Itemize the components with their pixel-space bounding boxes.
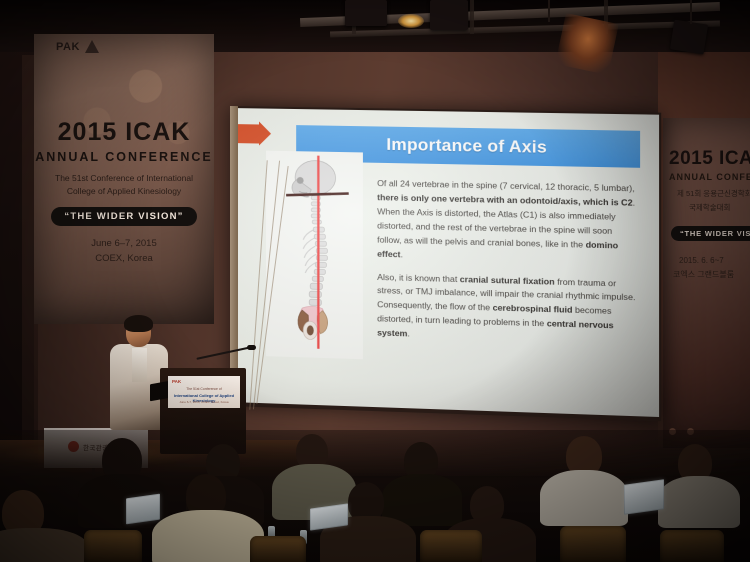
banner-right-korean-line2: 국제학술대회 [689,202,730,215]
audience-laptop [126,494,160,525]
ceiling-lamp-glow [398,14,424,28]
audience-laptop [624,479,664,515]
banner-right-venue: 코엑스 그랜드볼룸 [673,268,734,282]
laptop-screen [127,495,159,523]
podium-sign-logo: PAK [172,379,181,384]
banner-left-description: The 51st Conference of International Col… [34,172,214,198]
pak-logo-text: PAK [56,41,80,53]
banner-right: 2015 ICA ANNUAL CONFEREN 제 51회 응용근신경학회 국… [663,118,750,448]
chair [84,530,142,562]
stage-light [430,0,468,30]
speaker-hair [124,315,153,332]
slide-paragraph-2: Also, it is known that cranial sutural f… [377,270,638,348]
podium-sign-line1: The 51st Conference of [168,387,240,391]
anatomy-illustration [266,151,363,360]
audience-shoulders [0,528,88,562]
warm-spotlight [555,13,619,75]
banner-right-korean-line1: 제 51회 응용근신경학회 [677,188,750,201]
speaker-shirt [132,348,147,382]
pelvis-icon [298,306,328,340]
audience [0,430,750,562]
conference-photo: PAK 2015 ICAK ANNUAL CONFERENCE The 51st… [0,0,750,562]
banner-right-tagline: “THE WIDER VISION [671,226,750,241]
lumbar-spine [309,283,322,305]
skull-icon [292,160,336,197]
triangle-icon [85,40,99,53]
podium-sign: PAK The 51st Conference of International… [168,376,240,408]
podium-sign-line3: June 6-7, 2015, COEX, Seoul, Korea [168,400,240,404]
pak-logo: PAK [56,40,99,53]
stage-light [345,0,387,26]
chair [250,536,306,562]
audience-shoulders [658,476,740,528]
banner-left-date: June 6–7, 2015 [34,237,214,252]
arrow-icon [238,124,260,144]
stage-light [670,20,708,55]
laptop-screen [625,480,663,513]
spine-diagram-svg [266,151,363,360]
banner-right-subtitle: ANNUAL CONFEREN [669,172,750,182]
cervical-spine [311,196,321,224]
slide-body-text: Of all 24 vertebrae in the spine (7 cerv… [377,177,638,406]
slide: Importance of Axis [238,108,659,417]
banner-left: PAK 2015 ICAK ANNUAL CONFERENCE The 51st… [34,34,214,324]
slide-title: Importance of Axis [386,135,547,158]
audience-shoulders [540,470,628,526]
thoracic-spine [303,227,327,282]
banner-right-date: 2015. 6. 6~7 [679,254,724,268]
banner-left-body: 2015 ICAK ANNUAL CONFERENCE The 51st Con… [34,120,214,267]
chair [560,526,626,562]
banner-left-tagline: “THE WIDER VISION” [51,207,196,226]
chair [420,530,482,562]
screen-left-edge [230,106,238,406]
laptop-screen [311,504,347,529]
chair [660,530,724,562]
light-hanger [690,0,692,24]
banner-left-title: 2015 ICAK [34,120,214,145]
light-hanger [548,0,550,22]
truss-beam [470,0,474,34]
banner-left-subtitle: ANNUAL CONFERENCE [34,150,214,164]
projection-screen: Importance of Axis [230,106,661,421]
banner-right-title: 2015 ICA [669,148,750,170]
microphone-icon [247,345,256,350]
audience-shoulders [152,510,264,562]
slide-paragraph-1: Of all 24 vertebrae in the spine (7 cerv… [377,177,638,268]
banner-left-venue: COEX, Korea [34,252,214,267]
